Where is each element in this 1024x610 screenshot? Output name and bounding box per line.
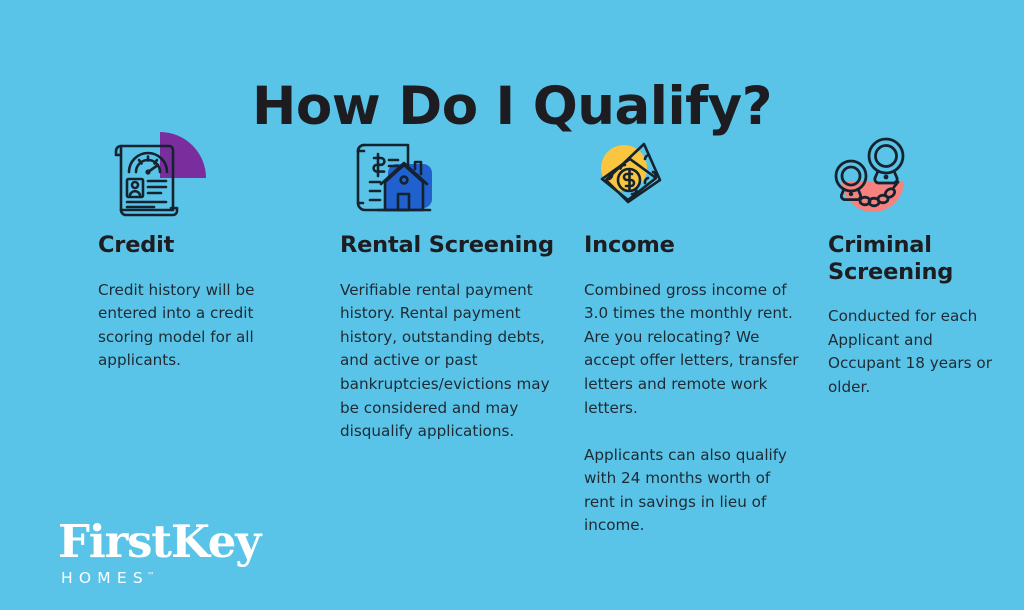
column-criminal-screening: Criminal Screening Conducted for each Ap… — [828, 124, 1024, 554]
firstkey-homes-logo: FirstKey HOMES ™ — [58, 519, 288, 587]
column-heading-income: Income — [584, 232, 782, 259]
credit-report-gauge-icon — [98, 124, 208, 224]
column-body-criminal-0: Conducted for each Applicant and Occupan… — [828, 305, 993, 399]
column-heading-criminal: Criminal Screening — [828, 232, 968, 285]
rental-document-house-icon — [340, 124, 450, 224]
qualification-columns: Credit Credit history will be entered in… — [0, 124, 1024, 554]
column-heading-credit: Credit — [98, 232, 294, 259]
column-body-income-1: Applicants can also qualify with 24 mont… — [584, 444, 799, 538]
logo-subtext: HOMES — [61, 571, 149, 587]
logo-sub-row: HOMES ™ — [61, 571, 288, 587]
column-credit: Credit Credit history will be entered in… — [98, 124, 294, 554]
handcuffs-icon — [828, 124, 938, 224]
column-income: Income Combined gross income of 3.0 time… — [584, 124, 782, 554]
column-rental-screening: Rental Screening Verifiable rental payme… — [340, 124, 538, 554]
column-body-rental-0: Verifiable rental payment history. Renta… — [340, 279, 556, 444]
infographic-canvas: How Do I Qualify? — [0, 0, 1024, 610]
logo-wordmark: FirstKey — [58, 519, 288, 564]
column-body-income-0: Combined gross income of 3.0 times the m… — [584, 279, 799, 421]
cash-banknotes-icon — [584, 124, 694, 224]
logo-trademark-icon: ™ — [147, 572, 155, 580]
column-body-credit-0: Credit history will be entered into a cr… — [98, 279, 268, 373]
column-heading-rental: Rental Screening — [340, 232, 570, 259]
